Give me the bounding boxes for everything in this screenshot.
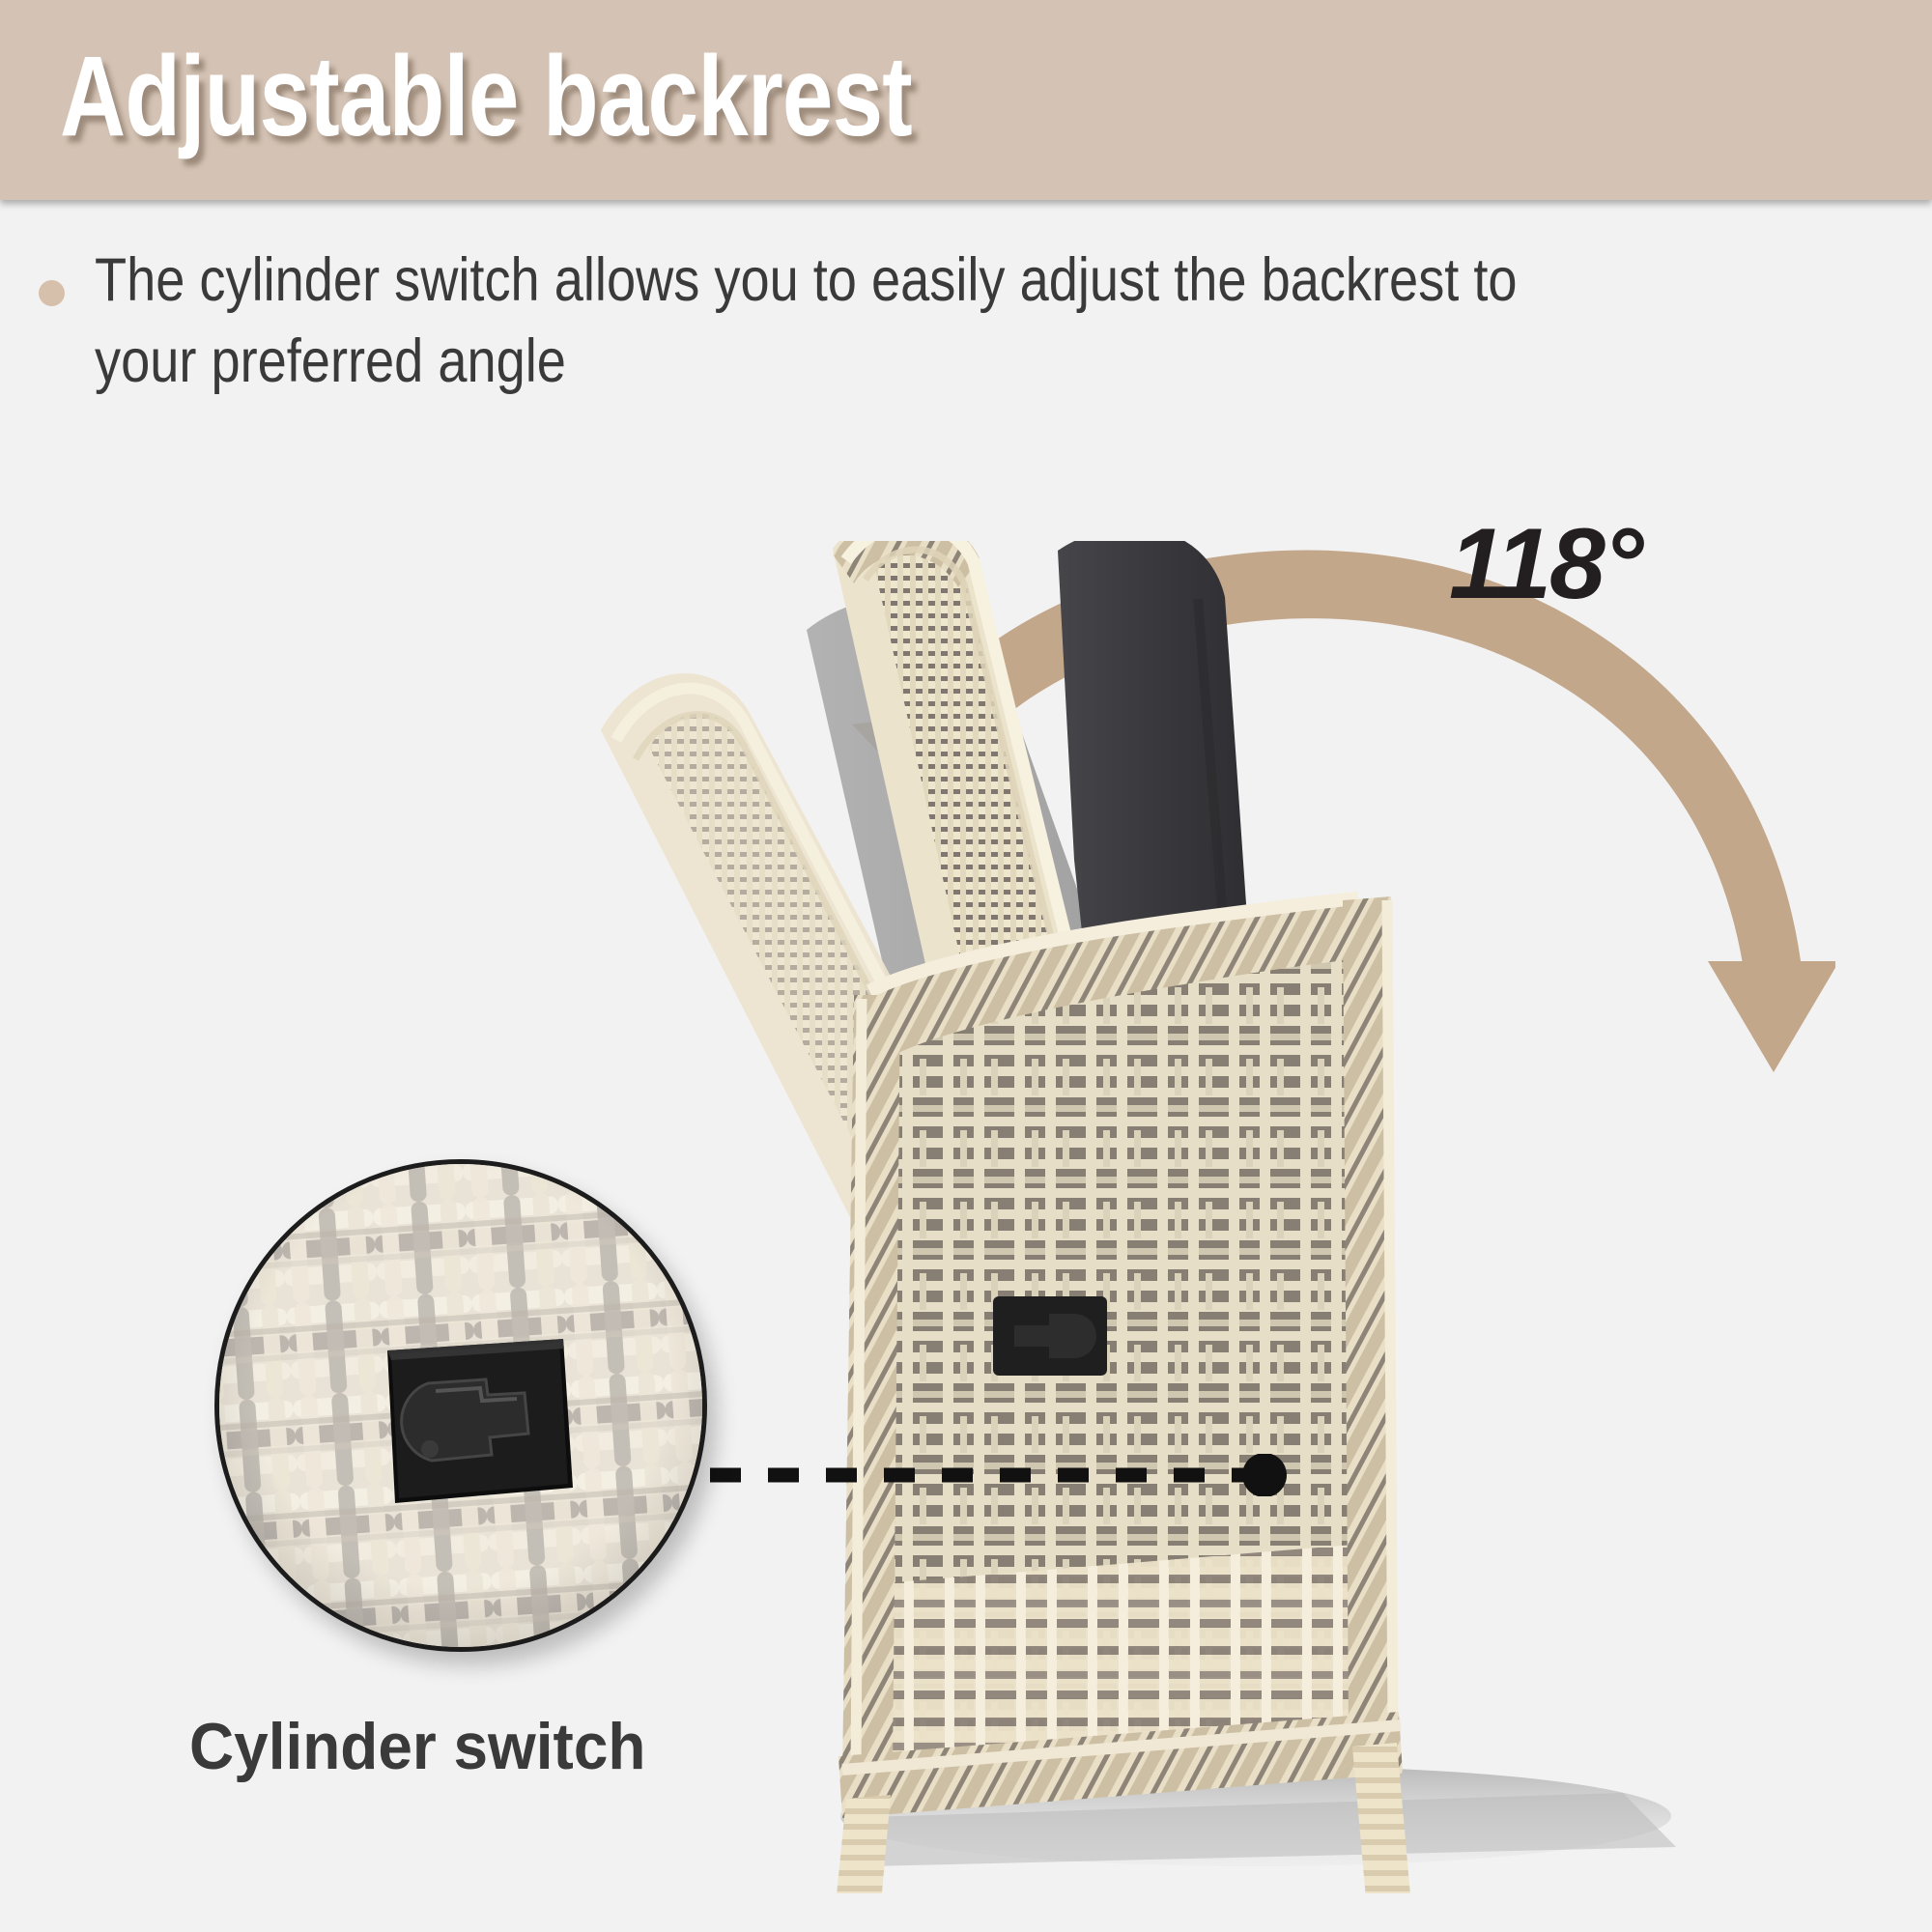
cylinder-switch-icon[interactable]	[993, 1296, 1107, 1376]
bullet-dot-icon	[39, 280, 65, 306]
infographic-page: Adjustable backrest The cylinder switch …	[0, 0, 1932, 1932]
dashed-leader-line-icon	[710, 1454, 1290, 1496]
feature-bullet-text: The cylinder switch allows you to easily…	[95, 240, 1623, 402]
header-banner: Adjustable backrest	[0, 0, 1932, 200]
page-title: Adjustable backrest	[60, 35, 912, 158]
cylinder-switch-detail-callout	[214, 1159, 707, 1652]
angle-value-label: 118°	[1449, 514, 1641, 614]
recliner-chair-illustration	[580, 541, 1797, 1893]
dot-endpoint-icon	[1242, 1454, 1287, 1496]
cylinder-switch-icon[interactable]	[374, 1333, 577, 1512]
cylinder-switch-label: Cylinder switch	[189, 1708, 645, 1785]
chair-body	[838, 896, 1403, 1818]
